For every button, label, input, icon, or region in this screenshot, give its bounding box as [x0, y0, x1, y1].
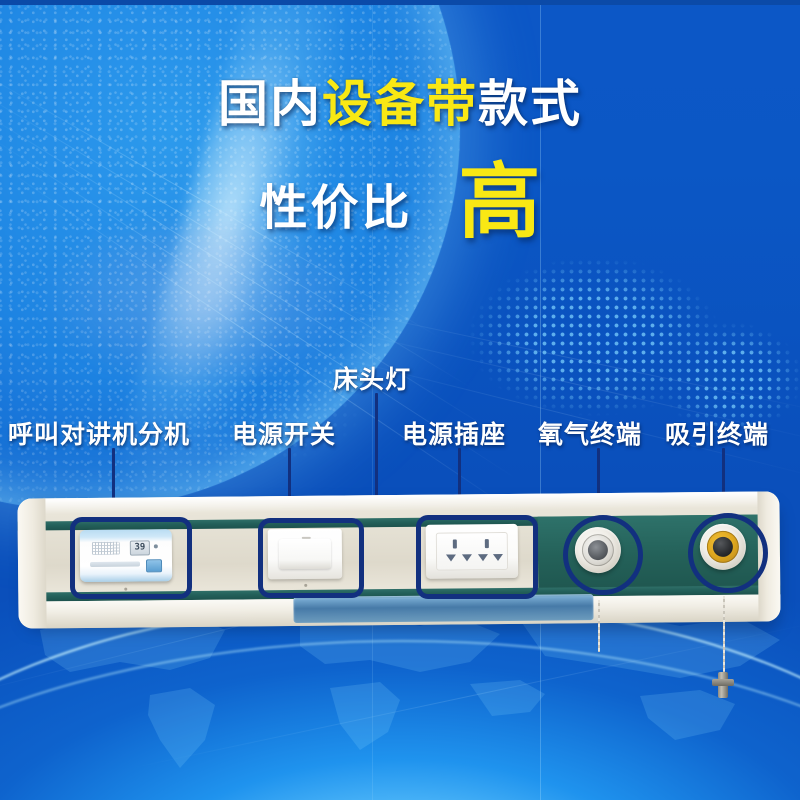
- medical-equipment-panel: 39: [18, 495, 786, 635]
- highlight-circle-oxygen-terminal: [563, 515, 643, 595]
- callout-label-bed-lamp: 床头灯: [333, 360, 411, 396]
- panel-left-end-cap: [17, 498, 46, 628]
- panel-top-highlight: [17, 491, 779, 514]
- callout-label-oxygen-terminal: 氧气终端: [538, 415, 642, 451]
- highlight-box-power-switch: [258, 518, 364, 598]
- hose-connector-plug: [718, 672, 728, 698]
- callout-label-power-switch: 电源开关: [232, 415, 336, 451]
- highlight-circle-suction-terminal: [688, 513, 768, 593]
- highlight-box-power-socket: [416, 515, 538, 599]
- callout-group: 呼叫对讲机分机 电源开关 床头灯 电源插座 氧气终端 吸引终端: [0, 0, 800, 800]
- callout-label-suction-terminal: 吸引终端: [665, 415, 769, 451]
- product-banner: 国内设备带款式 性价比 高 呼叫对讲机分机 电源开关 床头灯 电源插座 氧气终端…: [0, 0, 800, 800]
- oxygen-hose-cord: [598, 600, 600, 652]
- suction-hose-cord: [723, 596, 725, 674]
- callout-label-power-socket: 电源插座: [402, 415, 506, 451]
- callout-label-nurse-call-intercom: 呼叫对讲机分机: [8, 415, 190, 451]
- highlight-box-intercom: [70, 517, 192, 599]
